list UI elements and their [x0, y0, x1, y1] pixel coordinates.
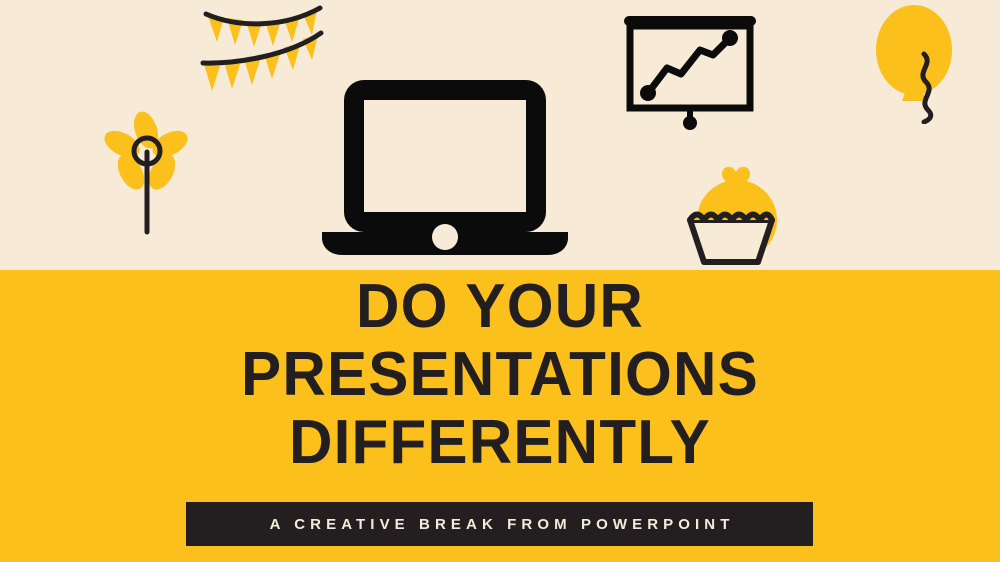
- presentation-board-chart-icon: [610, 8, 770, 132]
- balloon-icon: [868, 2, 972, 124]
- presentation-slide: DO YOUR PRESENTATIONS DIFFERENTLY A CREA…: [0, 0, 1000, 562]
- title-line-1: DO YOUR: [15, 276, 985, 338]
- laptop-icon: [312, 72, 578, 264]
- subtitle-banner: A CREATIVE BREAK FROM POWERPOINT: [186, 502, 813, 546]
- flower-icon: [98, 110, 194, 236]
- cupcake-icon: [680, 148, 794, 266]
- title-line-2: PRESENTATIONS: [15, 344, 985, 406]
- title-line-3: DIFFERENTLY: [15, 412, 985, 474]
- subtitle-text: A CREATIVE BREAK FROM POWERPOINT: [265, 516, 735, 533]
- bunting-garland-icon: [198, 2, 326, 94]
- slide-title: DO YOUR PRESENTATIONS DIFFERENTLY: [0, 276, 1000, 474]
